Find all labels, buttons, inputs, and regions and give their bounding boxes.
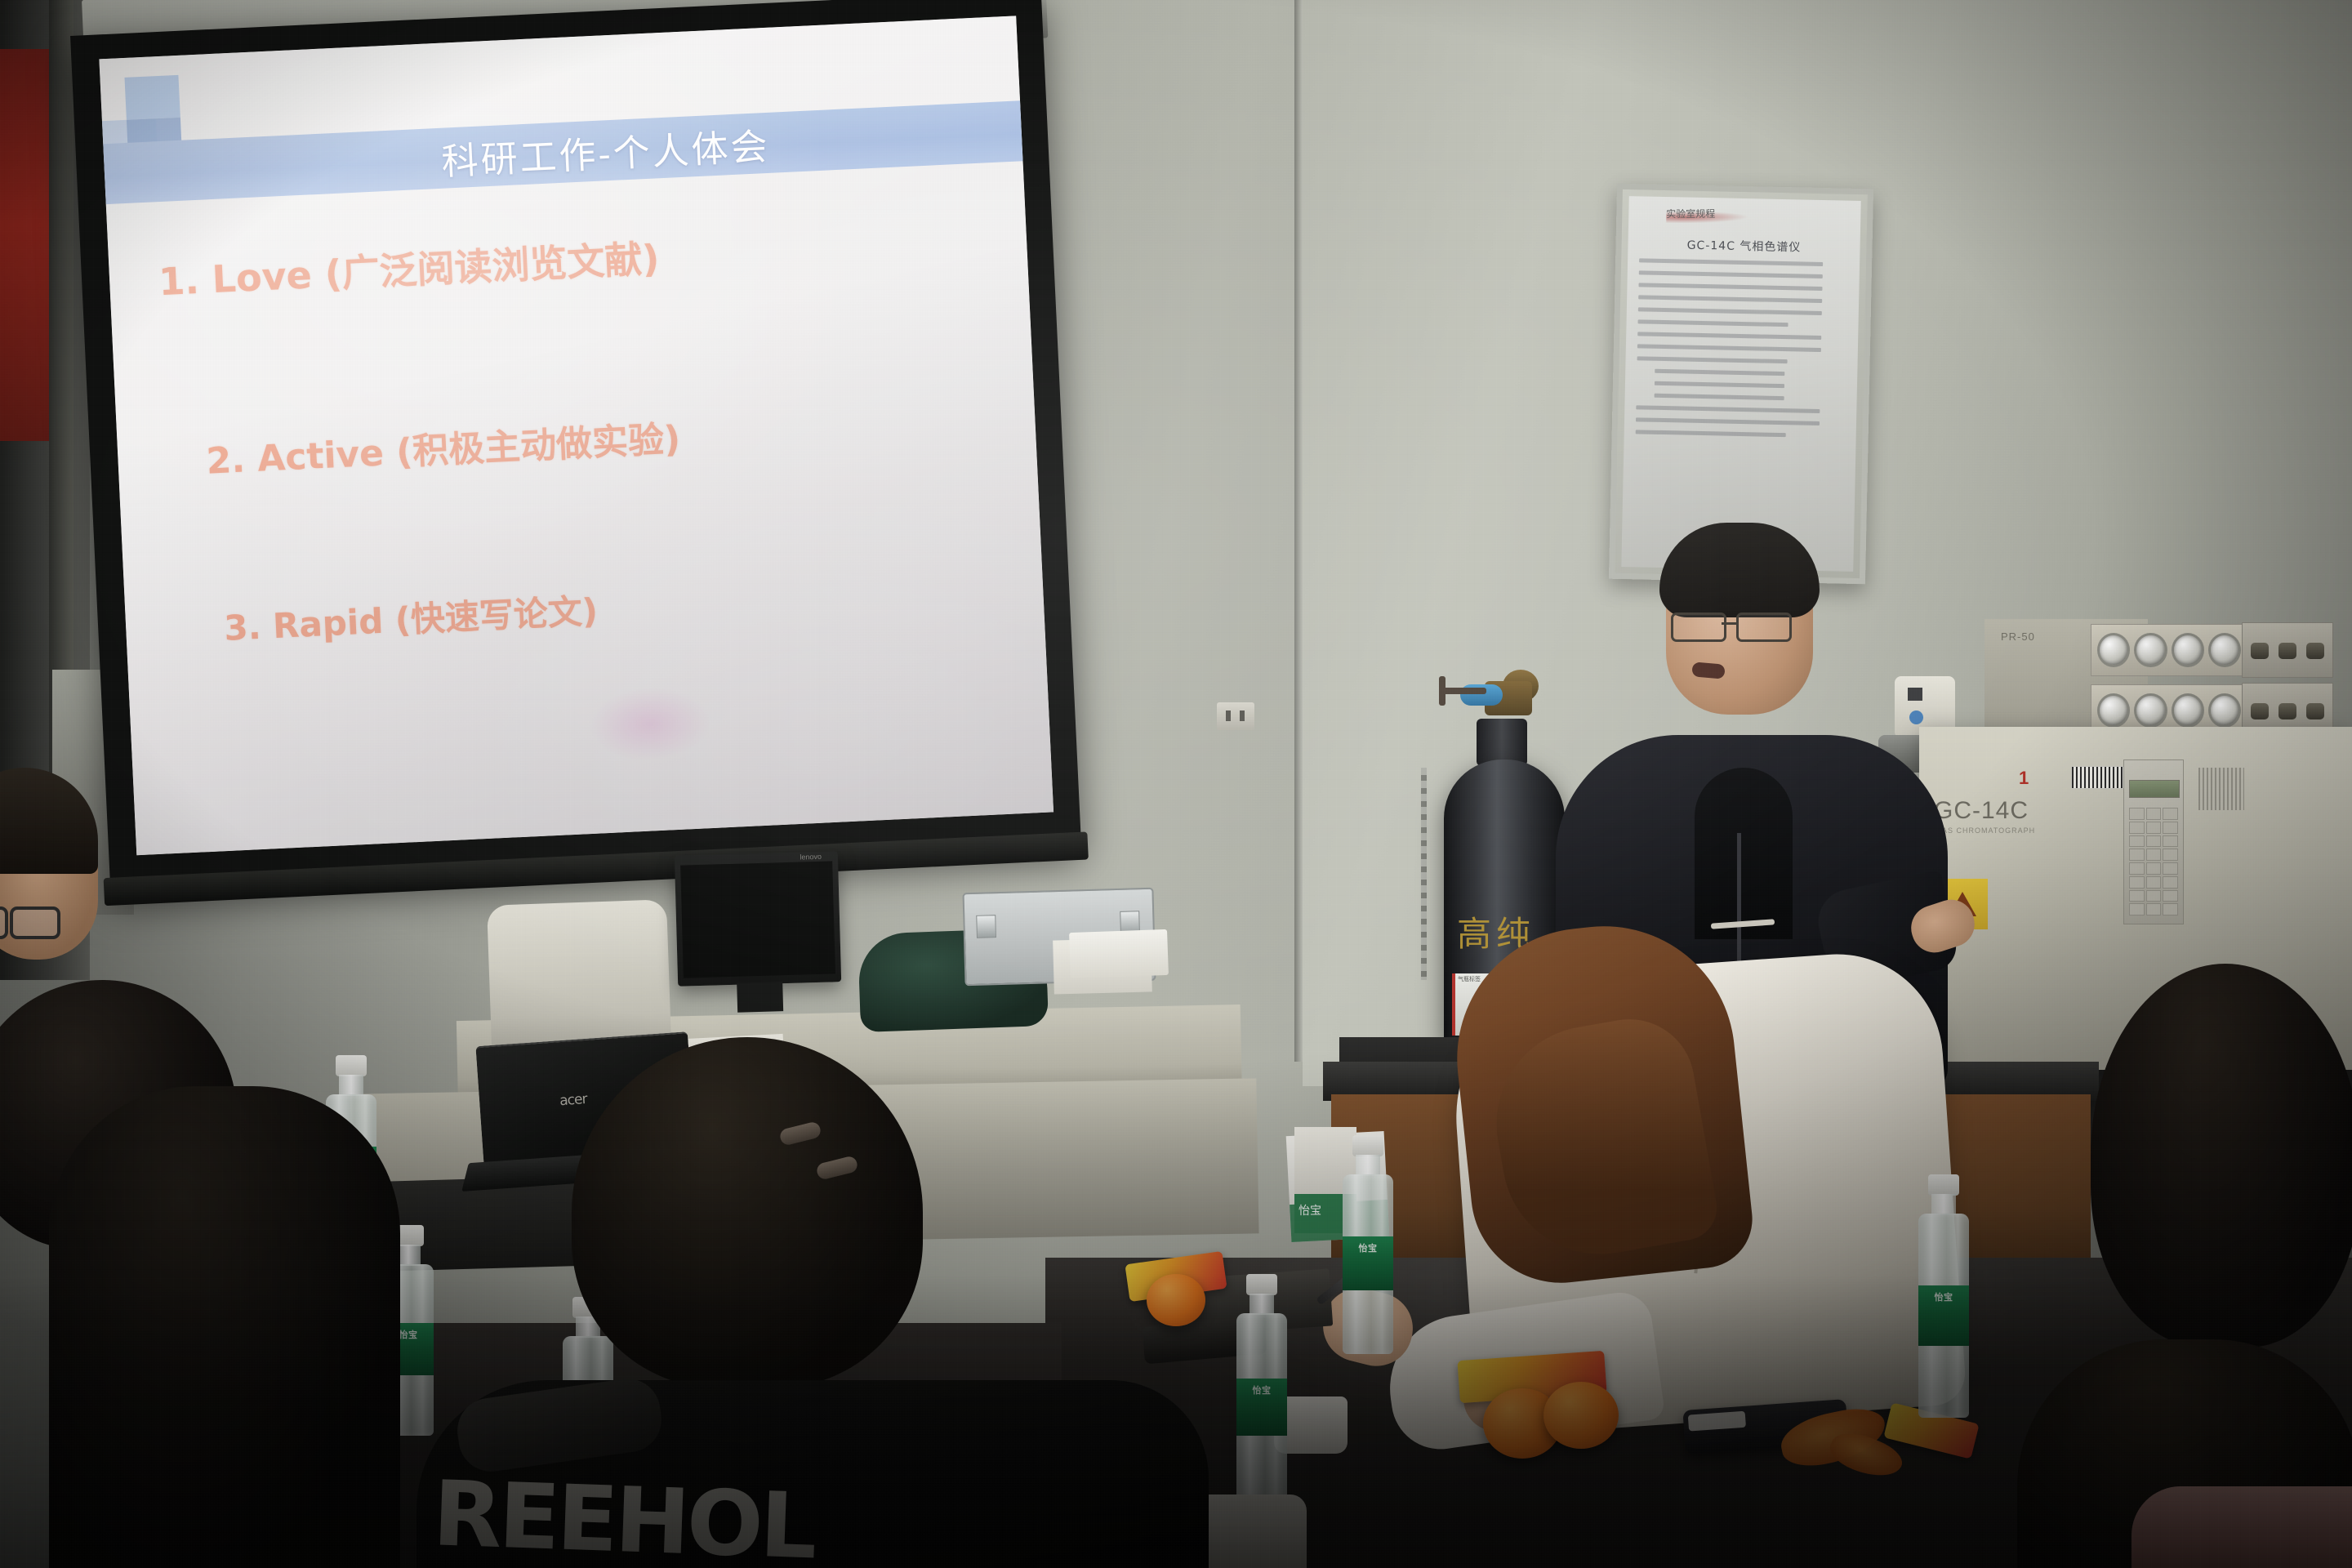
audience-glasses-icon bbox=[0, 906, 80, 934]
pressure-gauge-icon bbox=[2134, 633, 2167, 667]
poster-stamp: 实验室规程 bbox=[1666, 206, 1797, 228]
audience-head bbox=[2091, 964, 2352, 1347]
monitor-stand bbox=[737, 982, 783, 1013]
wall-poster-paper: 实验室规程 GC-14C 气相色谱仪 bbox=[1621, 196, 1860, 572]
poster-body-text bbox=[1635, 258, 1848, 446]
presenter-inner-shirt bbox=[1695, 768, 1793, 939]
instrument-vent bbox=[2198, 768, 2244, 810]
tissue-pack bbox=[1069, 929, 1169, 978]
red-wall-banner bbox=[0, 49, 54, 441]
bottle-label: 怡宝 bbox=[1343, 1236, 1393, 1290]
instrument-control-panel[interactable] bbox=[2123, 759, 2184, 924]
channel-marker: 1 bbox=[2019, 768, 2029, 789]
monitor-brand-label: lenovo bbox=[800, 853, 822, 862]
bottle-label: 怡宝 bbox=[1236, 1379, 1287, 1436]
wall-corner bbox=[1294, 0, 1303, 1062]
presenter-mouth bbox=[1691, 661, 1725, 679]
screen-surface: 科研工作-个人体会 1. Love (广泛阅读浏览文献) 2. Active (… bbox=[99, 16, 1053, 855]
laptop-brand-label: acer bbox=[559, 1091, 588, 1109]
cylinder-valve[interactable] bbox=[1460, 670, 1550, 722]
case-latch-icon[interactable] bbox=[976, 915, 996, 938]
photo-scene: Redleaf 科研工作-个人体会 1. Love (广泛阅读浏览文献) 2. … bbox=[0, 0, 2352, 1568]
instrument-display bbox=[2129, 780, 2180, 798]
audience-sleeve bbox=[2131, 1486, 2352, 1568]
top-unit-label: PR-50 bbox=[2001, 630, 2035, 643]
poster-title: GC-14C 气相色谱仪 bbox=[1628, 235, 1860, 256]
instrument-brand-label: GC-14C bbox=[1934, 797, 2029, 825]
audience-head bbox=[572, 1037, 923, 1388]
tangerine bbox=[1147, 1274, 1205, 1326]
valve-handle-cross[interactable] bbox=[1439, 676, 1445, 706]
hoodie-print-text: REEHOL bbox=[431, 1461, 1039, 1568]
slide-bullet-2: 2. Active (积极主动做实验) bbox=[205, 409, 681, 483]
bottle-label: 怡宝 bbox=[1918, 1285, 1969, 1346]
phone-screen bbox=[1688, 1411, 1746, 1432]
power-socket bbox=[1217, 702, 1254, 730]
slide-bullet-1: 1. Love (广泛阅读浏览文献) bbox=[158, 229, 661, 306]
bottle-cap bbox=[1246, 1274, 1277, 1295]
bottle-cap bbox=[336, 1055, 367, 1076]
projection-screen: 科研工作-个人体会 1. Love (广泛阅读浏览文献) 2. Active (… bbox=[70, 0, 1081, 893]
valve-handle[interactable] bbox=[1442, 688, 1486, 694]
presenter-glasses-icon bbox=[1671, 612, 1798, 637]
bottle-cap bbox=[1928, 1174, 1959, 1196]
audience-head bbox=[49, 1086, 400, 1568]
desktop-monitor: lenovo bbox=[675, 851, 841, 987]
projector-light-smudge bbox=[586, 684, 712, 764]
presentation-slide: 科研工作-个人体会 1. Love (广泛阅读浏览文献) 2. Active (… bbox=[99, 16, 1053, 855]
instrument-subtitle: GAS CHROMATOGRAPH bbox=[1935, 826, 2035, 835]
slide-bullet-3: 3. Rapid (快速写论文) bbox=[223, 583, 599, 651]
cylinder-safety-chain bbox=[1421, 768, 1427, 980]
bottle-cap bbox=[1352, 1135, 1383, 1156]
tangerine bbox=[1543, 1382, 1619, 1449]
pump-display-icon bbox=[1908, 688, 1922, 701]
pressure-gauge-icon bbox=[2097, 633, 2130, 667]
pressure-gauge-icon bbox=[2097, 693, 2130, 728]
water-carton-brand: 怡宝 bbox=[1298, 1202, 1321, 1218]
monitor-screen bbox=[680, 861, 835, 978]
pressure-gauge-icon bbox=[2134, 693, 2167, 728]
pump-button-icon[interactable] bbox=[1909, 710, 1923, 724]
slide-title: 科研工作-个人体会 bbox=[440, 116, 771, 185]
instrument-keypad[interactable] bbox=[2129, 808, 2178, 915]
